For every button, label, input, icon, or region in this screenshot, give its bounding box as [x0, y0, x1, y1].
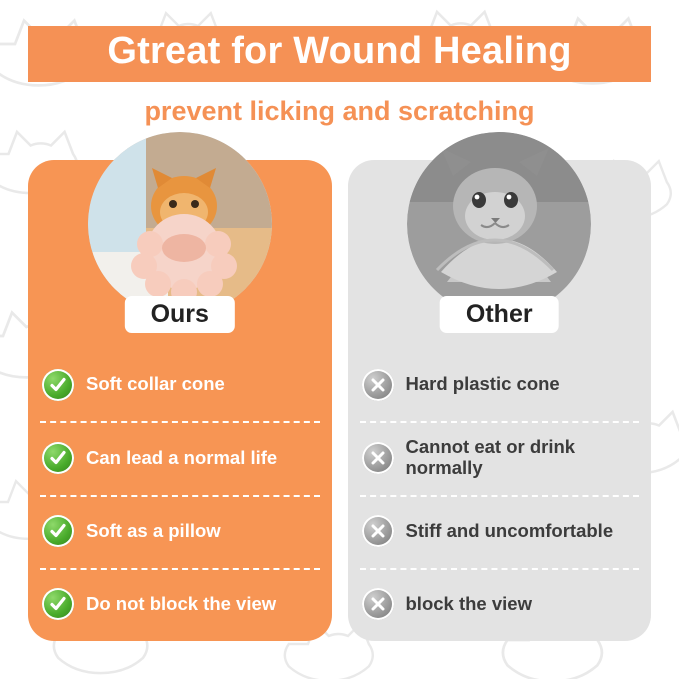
ours-product-photo: [88, 132, 272, 316]
comparison-section: Ours Soft collar cone Can lead a normal …: [28, 160, 651, 641]
list-item: block the view: [348, 568, 652, 641]
list-item: Cannot eat or drink normally: [348, 421, 652, 494]
list-item-label: Soft collar cone: [86, 374, 225, 395]
check-icon: [42, 442, 74, 474]
cross-icon: [362, 588, 394, 620]
list-item: Do not block the view: [28, 568, 332, 641]
list-item: Can lead a normal life: [28, 421, 332, 494]
panel-ours: Ours Soft collar cone Can lead a normal …: [28, 160, 332, 641]
other-feature-list: Hard plastic cone Cannot eat or drink no…: [348, 348, 652, 641]
panel-other: Other Hard plastic cone Cannot eat or dr…: [348, 160, 652, 641]
list-item: Soft collar cone: [28, 348, 332, 421]
list-item: Soft as a pillow: [28, 495, 332, 568]
ours-feature-list: Soft collar cone Can lead a normal life …: [28, 348, 332, 641]
cross-icon: [362, 442, 394, 474]
list-item-label: Soft as a pillow: [86, 521, 221, 542]
check-icon: [42, 369, 74, 401]
list-item-label: block the view: [406, 594, 532, 615]
list-item-label: Do not block the view: [86, 594, 276, 615]
cross-icon: [362, 369, 394, 401]
other-label: Other: [440, 296, 559, 333]
list-item-label: Hard plastic cone: [406, 374, 560, 395]
page-subtitle: prevent licking and scratching: [28, 96, 651, 127]
ours-label: Ours: [125, 296, 235, 333]
check-icon: [42, 588, 74, 620]
other-product-photo: [407, 132, 591, 316]
list-item: Hard plastic cone: [348, 348, 652, 421]
list-item-label: Cannot eat or drink normally: [406, 437, 638, 478]
list-item-label: Can lead a normal life: [86, 448, 277, 469]
list-item: Stiff and uncomfortable: [348, 495, 652, 568]
header: Gtreat for Wound Healing prevent licking…: [28, 26, 651, 127]
check-icon: [42, 515, 74, 547]
list-item-label: Stiff and uncomfortable: [406, 521, 614, 542]
cross-icon: [362, 515, 394, 547]
page-title: Gtreat for Wound Healing: [28, 26, 651, 82]
